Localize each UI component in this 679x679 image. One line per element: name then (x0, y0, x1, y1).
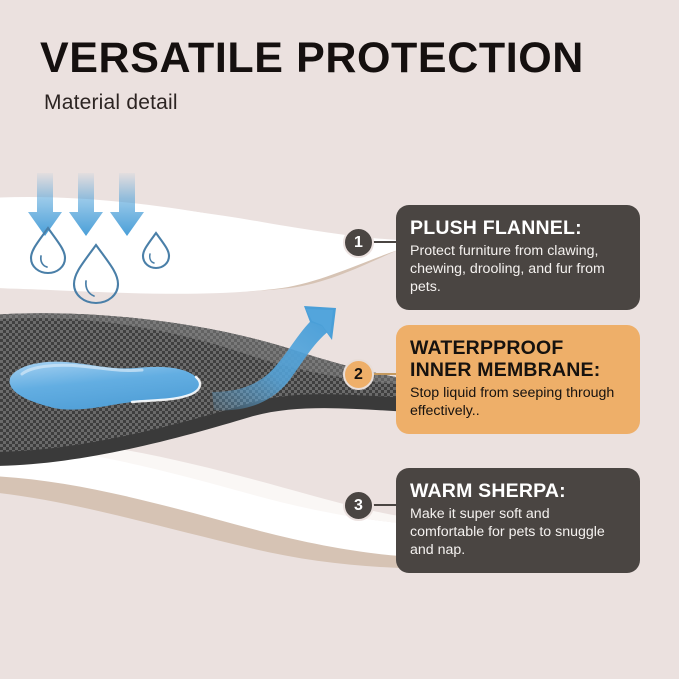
callout-1-body: Protect furniture from clawing, chewing,… (410, 243, 626, 297)
connector-line-1 (372, 241, 398, 243)
step-badge-1[interactable]: 1 (343, 227, 374, 258)
callout-2-body: Stop liquid from seeping through effecti… (410, 385, 626, 421)
callout-waterproof-membrane[interactable]: WATERPPROOF INNER MEMBRANE: Stop liquid … (396, 325, 640, 434)
callout-3-body: Make it super soft and comfortable for p… (410, 506, 626, 560)
callout-warm-sherpa[interactable]: WARM SHERPA: Make it super soft and comf… (396, 468, 640, 573)
callout-2-title: WATERPPROOF INNER MEMBRANE: (410, 337, 626, 381)
water-down-arrows (28, 173, 144, 236)
infographic-canvas: VERSATILE PROTECTION Material detail 1 2… (0, 0, 679, 679)
callout-plush-flannel[interactable]: PLUSH FLANNEL: Protect furniture from cl… (396, 205, 640, 310)
callout-3-title: WARM SHERPA: (410, 480, 626, 502)
callout-1-title: PLUSH FLANNEL: (410, 217, 626, 239)
page-title: VERSATILE PROTECTION (40, 36, 640, 81)
page-subtitle: Material detail (44, 91, 640, 115)
connector-line-3 (372, 504, 398, 506)
connector-line-2 (372, 373, 398, 375)
step-badge-2[interactable]: 2 (343, 359, 374, 390)
step-badge-3[interactable]: 3 (343, 490, 374, 521)
header: VERSATILE PROTECTION Material detail (40, 36, 640, 115)
